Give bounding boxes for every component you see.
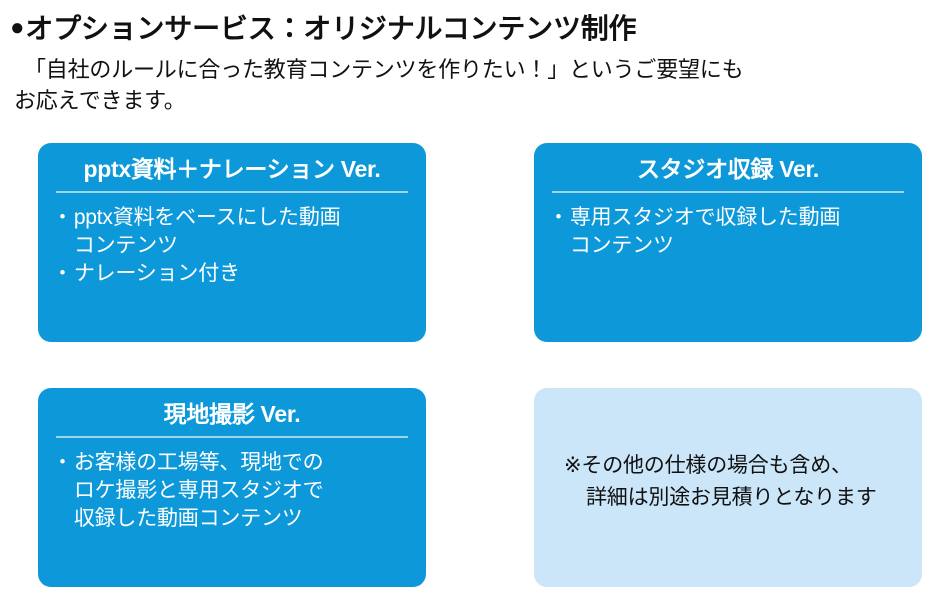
slide-header: ● オプションサービス：オリジナルコンテンツ制作 「自社のルールに合った教育コン…	[0, 0, 941, 116]
quotation-note-text: ※その他の仕様の場合も含め、 詳細は別途お見積りとなります	[534, 388, 922, 513]
list-item-line: ロケ撮影と専用スタジオで	[74, 477, 414, 505]
quotation-note-line-2: 詳細は別途お見積りとなります	[534, 482, 922, 514]
list-item-line: pptx資料をベースにした動画	[74, 204, 414, 232]
page-title: ● オプションサービス：オリジナルコンテンツ制作	[0, 0, 941, 46]
bullet-point-icon: ・	[52, 260, 73, 288]
list-item-text: お客様の工場等、現地での ロケ撮影と専用スタジオで 収録した動画コンテンツ	[74, 449, 414, 533]
card-on-site-shooting[interactable]: 現地撮影 Ver. ・ お客様の工場等、現地での ロケ撮影と専用スタジオで 収録…	[38, 388, 426, 587]
list-item-text: 専用スタジオで収録した動画 コンテンツ	[570, 204, 910, 260]
card-pptx-narration[interactable]: pptx資料＋ナレーション Ver. ・ pptx資料をベースにした動画 コンテ…	[38, 143, 426, 342]
list-item-line: コンテンツ	[570, 232, 910, 260]
list-item: ・ ナレーション付き	[52, 260, 414, 288]
quotation-note-line-1: ※その他の仕様の場合も含め、	[534, 450, 922, 482]
list-item-text: ナレーション付き	[74, 260, 414, 288]
list-item-line: ナレーション付き	[74, 260, 414, 288]
bullet-point-icon: ・	[548, 204, 569, 232]
filled-circle-icon: ●	[10, 12, 24, 44]
list-item: ・ お客様の工場等、現地での ロケ撮影と専用スタジオで 収録した動画コンテンツ	[52, 449, 414, 533]
card-title-studio-recording: スタジオ収録 Ver.	[534, 143, 922, 184]
intro-paragraph: 「自社のルールに合った教育コンテンツを作りたい！」というご要望にも お応えできま…	[0, 46, 941, 116]
card-title-on-site-shooting: 現地撮影 Ver.	[38, 388, 426, 429]
intro-line-2: お応えできます。	[14, 85, 941, 116]
card-studio-recording[interactable]: スタジオ収録 Ver. ・ 専用スタジオで収録した動画 コンテンツ	[534, 143, 922, 342]
card-title-pptx-narration: pptx資料＋ナレーション Ver.	[38, 143, 426, 184]
page-title-text: オプションサービス：オリジナルコンテンツ制作	[25, 12, 636, 46]
intro-line-1: 「自社のルールに合った教育コンテンツを作りたい！」というご要望にも	[24, 54, 941, 85]
card-body-on-site-shooting: ・ お客様の工場等、現地での ロケ撮影と専用スタジオで 収録した動画コンテンツ	[38, 438, 426, 533]
list-item-line: 専用スタジオで収録した動画	[570, 204, 910, 232]
service-card-grid: pptx資料＋ナレーション Ver. ・ pptx資料をベースにした動画 コンテ…	[38, 143, 922, 586]
list-item: ・ pptx資料をベースにした動画 コンテンツ	[52, 204, 414, 260]
list-item-line: お客様の工場等、現地での	[74, 449, 414, 477]
list-item: ・ 専用スタジオで収録した動画 コンテンツ	[548, 204, 910, 260]
list-item-text: pptx資料をベースにした動画 コンテンツ	[74, 204, 414, 260]
bullet-point-icon: ・	[52, 449, 73, 477]
list-item-line: コンテンツ	[74, 232, 414, 260]
card-body-studio-recording: ・ 専用スタジオで収録した動画 コンテンツ	[534, 193, 922, 260]
bullet-point-icon: ・	[52, 204, 73, 232]
card-quotation-note: ※その他の仕様の場合も含め、 詳細は別途お見積りとなります	[534, 388, 922, 587]
card-body-pptx-narration: ・ pptx資料をベースにした動画 コンテンツ ・ ナレーション付き	[38, 193, 426, 288]
list-item-line: 収録した動画コンテンツ	[74, 505, 414, 533]
